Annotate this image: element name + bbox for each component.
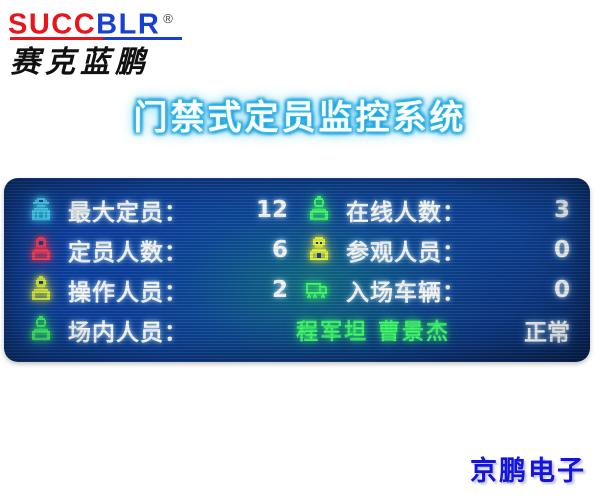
led-value-registered-count: 6 [242,237,294,263]
person-head-icon [26,235,56,265]
registered-trademark-icon: ® [163,11,173,26]
led-value-visitors: 0 [524,237,576,263]
led-label-occupants: 场内人员： [56,313,262,347]
person-inside-icon [26,315,56,345]
led-row-visitors: 参观人员： 0 [304,232,576,268]
led-label-max-capacity: 最大定员： [56,193,242,227]
person-cap-icon [26,195,56,225]
led-label-vehicles: 入场车辆： [334,273,524,307]
person-gear-icon [26,275,56,305]
led-content-grid: 最大定员： 12 [4,178,590,362]
brand-chinese-name: 赛克蓝鹏 [10,37,150,81]
led-row-operators: 操作人员： 2 [26,272,294,308]
led-value-occupant-names: 程军坦 曹景杰 [262,314,524,346]
led-value-operators: 2 [242,277,294,303]
brand-logo: SUCCBLR® 赛克蓝鹏 [8,4,238,76]
led-label-online-count: 在线人数： [334,193,524,227]
brand-wordmark-blue: BLR [96,9,160,41]
led-label-visitors: 参观人员： [334,233,524,267]
led-status-badge: 正常 [524,313,576,347]
led-value-online-count: 3 [524,197,576,223]
led-row-max-capacity: 最大定员： 12 [26,192,294,228]
brand-wordmark: SUCCBLR® [8,4,238,40]
truck-icon [304,275,334,305]
person-online-icon [304,195,334,225]
led-value-vehicles: 0 [524,277,576,303]
led-row-vehicles: 入场车辆： 0 [304,272,576,308]
footer-company-name: 京鹏电子 [470,449,586,488]
person-visitor-icon [304,235,334,265]
led-row-occupants: 场内人员： 程军坦 曹景杰 正常 [26,312,576,348]
led-right-column: 在线人数： 3 [304,192,576,312]
led-row-registered-count: 定员人数： 6 [26,232,294,268]
led-value-max-capacity: 12 [242,197,294,223]
led-left-column: 最大定员： 12 [26,192,294,312]
brand-wordmark-red: SUCC [8,9,96,41]
led-display-panel: 最大定员： 12 [4,178,590,362]
led-label-registered-count: 定员人数： [56,233,242,267]
led-label-operators: 操作人员： [56,273,242,307]
page-title: 门禁式定员监控系统 [0,90,600,139]
led-row-online-count: 在线人数： 3 [304,192,576,228]
